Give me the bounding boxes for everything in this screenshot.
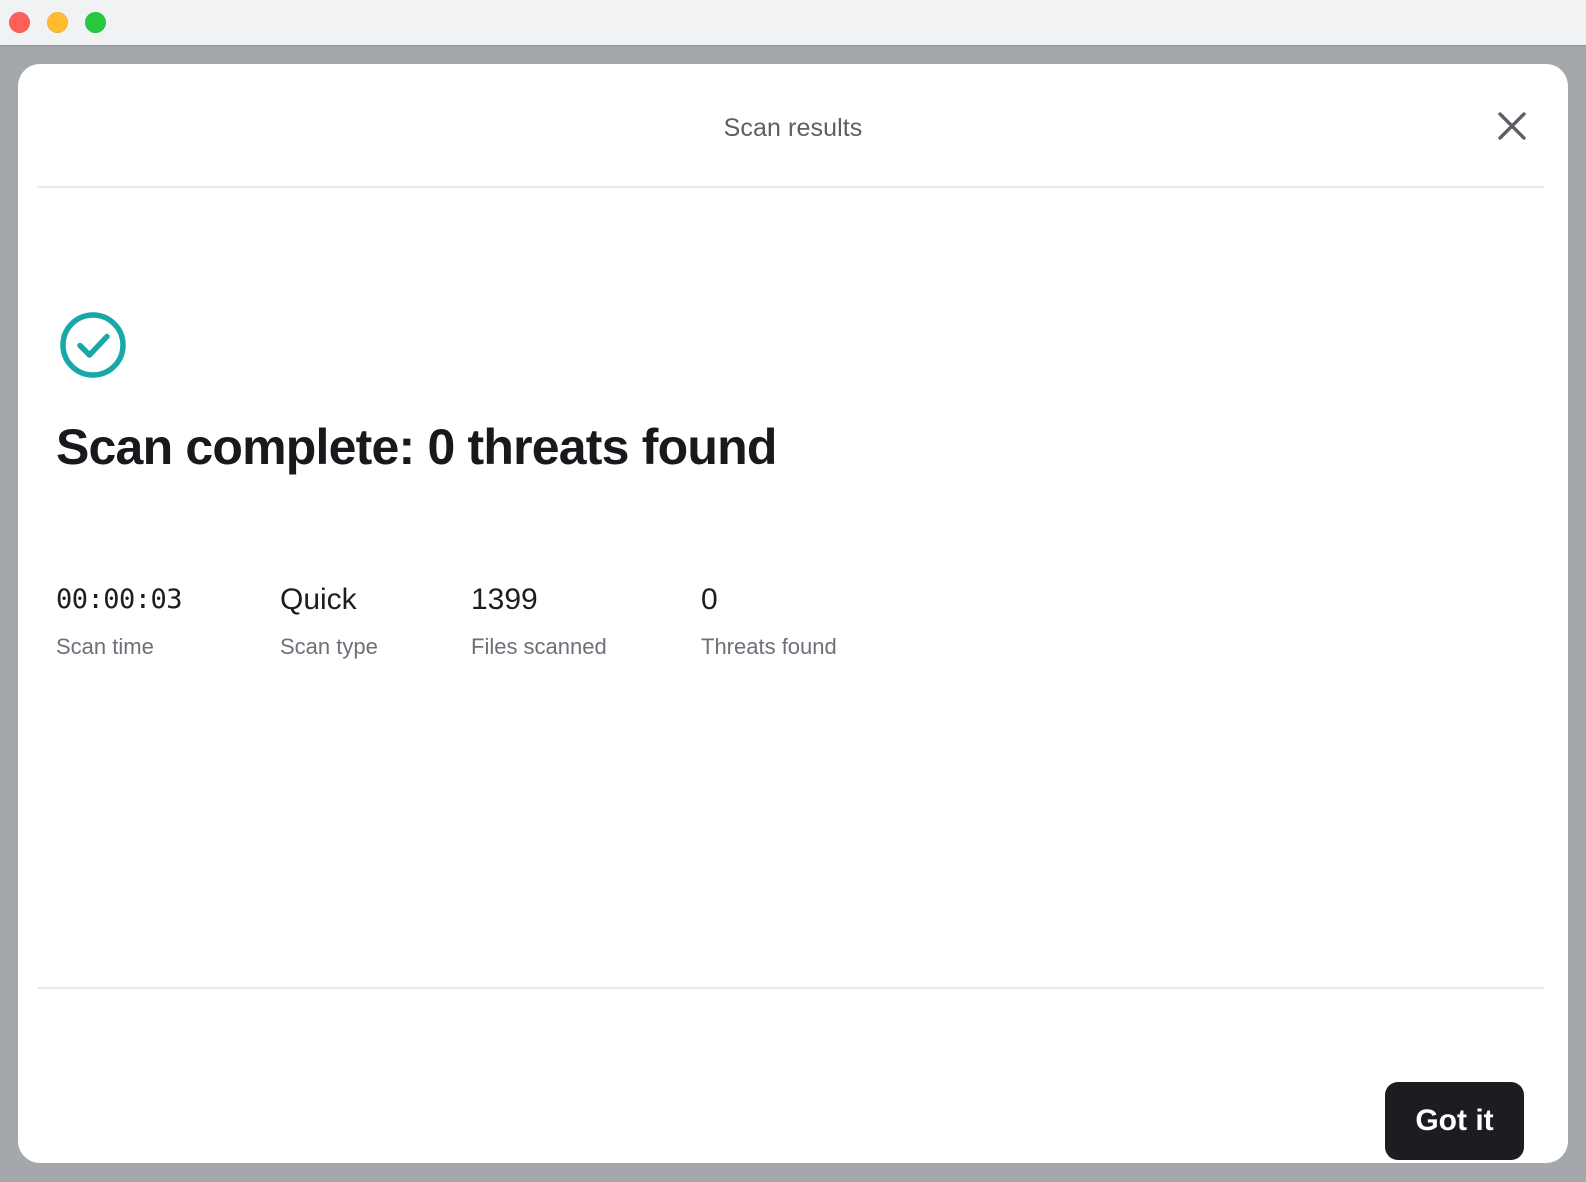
- modal-body: Scan complete: 0 threats found 00:00:03 …: [18, 187, 1568, 987]
- stat-value: 00:00:03: [56, 583, 182, 617]
- stat-label: Scan type: [280, 634, 378, 660]
- window-zoom-button[interactable]: [85, 12, 106, 33]
- got-it-button[interactable]: Got it: [1385, 1082, 1524, 1160]
- stat-label: Threats found: [701, 634, 837, 660]
- close-button[interactable]: [1488, 102, 1536, 150]
- scan-stats: 00:00:03 Scan time Quick Scan type 1399 …: [56, 583, 1156, 673]
- stat-value: 0: [701, 583, 837, 617]
- stat-label: Scan time: [56, 634, 182, 660]
- stat-files-scanned: 1399 Files scanned: [471, 583, 607, 660]
- window-titlebar: [0, 0, 1586, 46]
- window-close-button[interactable]: [9, 12, 30, 33]
- stat-value: Quick: [280, 583, 378, 617]
- traffic-light-group: [9, 12, 106, 33]
- window-minimize-button[interactable]: [47, 12, 68, 33]
- scan-results-modal: Scan results Scan complete: 0 threats fo…: [18, 64, 1568, 1163]
- stat-scan-type: Quick Scan type: [280, 583, 378, 660]
- page-title: Scan results: [18, 114, 1568, 143]
- check-circle-icon: [58, 310, 128, 380]
- stat-label: Files scanned: [471, 634, 607, 660]
- app-window: Scan results Scan complete: 0 threats fo…: [0, 0, 1586, 1182]
- close-icon: [1495, 109, 1529, 143]
- modal-footer: Got it: [18, 989, 1568, 1163]
- stat-value: 1399: [471, 583, 607, 617]
- stat-threats-found: 0 Threats found: [701, 583, 837, 660]
- modal-header: Scan results: [18, 64, 1568, 187]
- scan-result-headline: Scan complete: 0 threats found: [56, 418, 777, 476]
- stat-scan-time: 00:00:03 Scan time: [56, 583, 182, 660]
